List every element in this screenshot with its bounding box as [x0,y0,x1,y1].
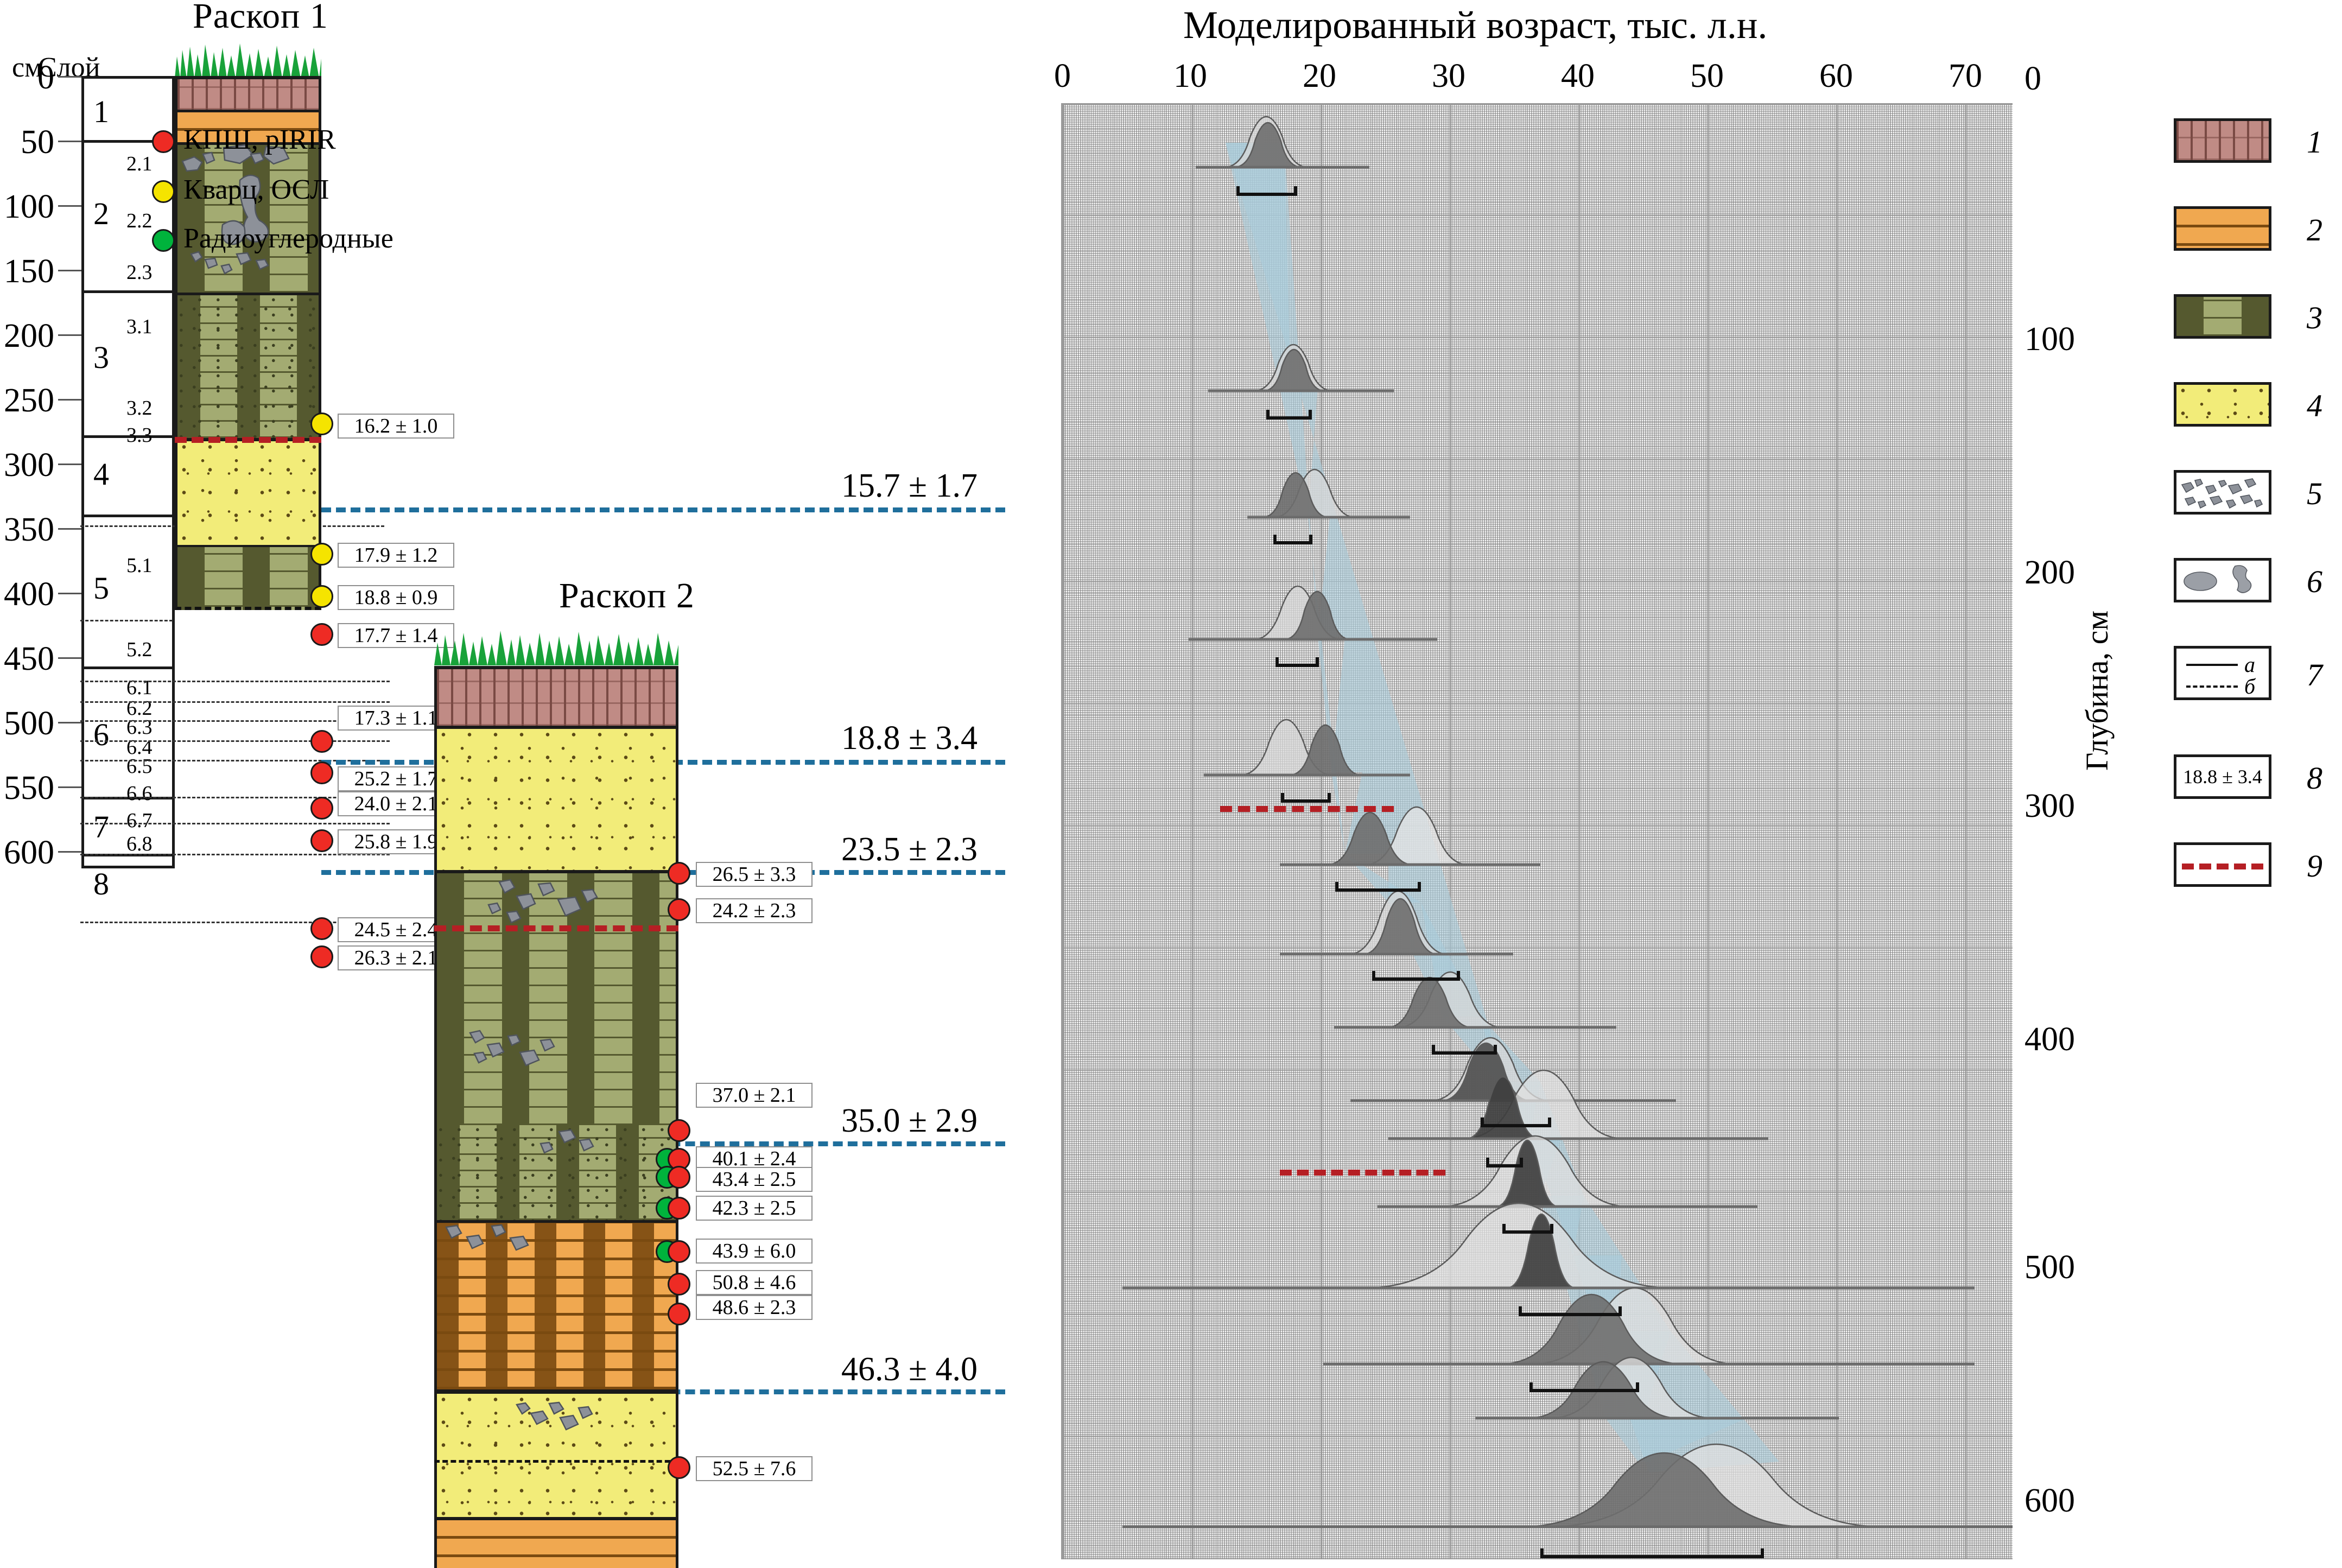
depth-tickmark [58,399,82,401]
sample-dot[interactable] [668,1119,690,1142]
legend-number: 5 [2307,475,2322,512]
sample-dot[interactable] [310,829,333,852]
sublayer-label: 6.5 [126,754,153,778]
sample-age-box: 26.5 ± 3.3 [696,862,813,887]
hdi-bracket [1540,1548,1764,1558]
legend-number: 8 [2307,760,2322,796]
layer-divider [81,290,175,293]
legend-number: 3 [2307,300,2322,336]
chart-title: Моделированный возраст, тыс. л.н. [1183,3,1767,48]
hdi-bracket [1486,1158,1523,1167]
column1-layer-1a [175,76,321,110]
depth-tick-left: 100 [0,188,54,226]
sublayer-connector [80,740,390,742]
clast-shapes-column2-lower [434,1125,678,1386]
sublayer-connector [80,701,390,703]
hdi-bracket [1273,535,1312,544]
column2-layer-3-3 [434,666,678,726]
dating-legend-label: Радиоуглеродные [183,223,393,255]
sublayer-label: 6.6 [126,782,153,805]
sample-dot[interactable] [310,761,333,784]
depth-tick-right: 500 [2024,1248,2106,1287]
boundary-line-1 [321,507,1005,512]
sublayer-label: 6.7 [126,809,153,833]
legend-swatch-7: а б [2174,646,2271,700]
depth-tick-left: 200 [0,317,54,356]
sample-age-box: 24.2 ± 2.3 [696,898,813,923]
sample-age-box: 37.0 ± 2.1 [696,1083,813,1108]
depth-tick-left: 50 [0,123,54,162]
legend-age-sample: 18.8 ± 3.4 [2183,765,2262,788]
depth-tickmark [58,722,82,723]
legend-swatch-2 [2174,206,2271,251]
legend-swatch-3 [2174,294,2271,339]
depth-tick-left: 300 [0,446,54,485]
depth-tick-right: 600 [2024,1482,2106,1520]
hiatus-marker-plot [1280,1170,1445,1176]
age-axis-tick: 20 [1303,57,1336,96]
layer-number: 2 [93,195,109,232]
sublayer-label: 6.8 [126,832,153,856]
line-type-b-label: б [2244,674,2255,699]
sublayer-label: 5.2 [126,638,153,662]
trench-2-title: Раскоп 2 [559,575,695,617]
grass-icon-trench2 [434,630,678,665]
sample-age-box: 43.4 ± 2.5 [696,1167,813,1192]
dating-legend-label: КПШ, pIRIR [183,124,336,156]
clast-shapes-column2 [434,870,678,1131]
sublayer-connector [80,681,390,682]
legend-number: 1 [2307,124,2322,160]
red-dot-icon [152,130,175,153]
red-dashed-line-sample [2182,864,2263,869]
hdi-bracket [1372,971,1460,981]
sample-dot[interactable] [668,1197,690,1220]
layer-number: 6 [93,716,109,753]
pdf-distributions [1063,105,2013,1559]
depth-tick-right: 100 [2024,320,2106,359]
legend-swatch-9 [2174,842,2271,887]
depth-tick-left: 600 [0,834,54,872]
sublayer-label: 3.3 [126,423,153,447]
sample-dot[interactable] [310,945,333,968]
sublayer-line-column2 [434,1460,678,1463]
layer-divider [81,666,175,669]
layer-divider [81,515,175,517]
depth-tick-left: 450 [0,640,54,678]
depth-tick-right: 300 [2024,787,2106,826]
grass-icon-trench1 [175,42,321,78]
legend-number: 4 [2307,388,2322,424]
sample-dot[interactable] [310,623,333,646]
sample-dot[interactable] [668,1273,690,1296]
trench-1-title: Раскоп 1 [193,0,328,37]
hdi-bracket [1275,657,1319,667]
age-axis-tick: 10 [1173,57,1207,96]
sublayer-label: 2.2 [126,209,153,233]
depth-tickmark [58,141,82,142]
hdi-bracket [1236,186,1297,196]
hdi-bracket [1281,793,1331,803]
hdi-bracket [1502,1224,1553,1234]
sample-dot[interactable] [310,412,333,435]
depth-tick-left: 250 [0,382,54,420]
depth-tickmark [58,593,82,594]
sample-dot[interactable] [668,1456,690,1479]
sample-age-box: 43.9 ± 6.0 [696,1239,813,1264]
hiatus-line-column1 [175,437,321,443]
sample-dot[interactable] [310,543,333,566]
sample-dot[interactable] [310,917,333,940]
sample-age-box: 50.8 ± 4.6 [696,1270,813,1295]
depth-tickmark [58,76,82,78]
column1-layer-4 [175,438,321,545]
sample-dot[interactable] [668,1240,690,1263]
sample-dot[interactable] [668,1303,690,1325]
layer-number: 7 [93,809,109,845]
sample-age-box: 16.2 ± 1.0 [338,414,454,439]
depth-tick-left: 350 [0,511,54,549]
legend-swatch-6 [2174,558,2271,602]
boundary-age-label: 23.5 ± 2.3 [841,830,978,869]
hdi-bracket [1529,1382,1639,1392]
depth-tickmark [58,528,82,530]
clast-shapes-column2-layer7 [434,1395,678,1460]
hiatus-line-column2 [434,925,678,931]
sublayer-connector [80,823,390,824]
depth-tickmark [58,334,82,336]
sample-age-box: 52.5 ± 7.6 [696,1456,813,1481]
legend-swatch-5 [2174,470,2271,515]
yellow-dot-icon [152,180,175,203]
sample-dot[interactable] [310,797,333,820]
hdi-bracket [1432,1045,1497,1055]
depth-tick-left: 400 [0,575,54,614]
age-axis-tick: 30 [1432,57,1465,96]
depth-tick-left: 550 [0,769,54,808]
depth-tickmark [58,464,82,465]
sublayer-label: 2.3 [126,261,153,284]
depth-tick-right: 400 [2024,1020,2106,1059]
hdi-bracket [1266,410,1312,420]
boundary-age-label: 15.7 ± 1.7 [841,467,978,505]
gravel-clasts-icon [2176,473,2269,513]
legend-swatch-8: 18.8 ± 3.4 [2174,754,2271,799]
sample-age-box: 17.9 ± 1.2 [338,543,454,568]
depth-tick-left: 0 [0,59,54,97]
layer-number: 1 [93,93,109,130]
sublayer-label: 3.1 [126,315,153,339]
age-axis-tick: 70 [1949,57,1982,96]
legend-number: 7 [2307,657,2322,693]
legend-number: 9 [2307,848,2322,884]
sample-dot[interactable] [668,1166,690,1189]
column1-layer-5-1 [175,545,321,610]
age-axis-tick: 50 [1690,57,1724,96]
depth-axis-right-label: Глубина, см [2079,611,2115,771]
sample-dot[interactable] [668,862,690,885]
age-axis-tick: 0 [1054,57,1071,96]
layer-number: 3 [93,339,109,376]
green-dot-icon [152,229,175,252]
depth-tickmark [58,205,82,207]
age-axis-tick: 40 [1561,57,1595,96]
boundary-age-label: 18.8 ± 3.4 [841,719,978,758]
column2-layer-4 [434,726,678,870]
sublayer-label: 2.1 [126,152,153,176]
sample-dot[interactable] [310,585,333,608]
legend-number: 2 [2307,212,2322,248]
sublayer-connector [80,620,173,621]
column1-layer-3 [175,293,321,438]
depth-tickmark [58,270,82,271]
depth-tick-left: 500 [0,704,54,743]
boundary-age-label: 35.0 ± 2.9 [841,1102,978,1140]
hiatus-marker-plot [1220,806,1394,812]
boundary-age-label: 46.3 ± 4.0 [841,1350,978,1389]
hdi-bracket [1519,1306,1622,1316]
age-depth-plot [1061,103,2013,1559]
sublayer-label: 3.2 [126,396,153,420]
solid-line-sample [2186,664,2238,666]
sample-dot[interactable] [310,730,333,753]
legend-swatch-1 [2174,118,2271,163]
depth-tick-left: 150 [0,252,54,291]
depth-tick-right: 200 [2024,554,2106,592]
hdi-bracket [1335,882,1421,892]
age-axis-tick: 60 [1819,57,1853,96]
depth-tickmark [58,657,82,659]
layer-number: 4 [93,456,109,492]
column2-layer-8 [434,1517,678,1568]
sample-age-box: 18.8 ± 0.9 [338,585,454,610]
depth-tickmark [58,851,82,853]
legend-swatch-4 [2174,382,2271,427]
dashed-line-sample [2186,685,2238,688]
depth-tickmark [58,786,82,788]
large-clasts-icon [2176,561,2269,601]
layer-number: 8 [93,866,109,902]
dating-legend-label: Кварц, ОСЛ [183,174,329,206]
sample-age-box: 42.3 ± 2.5 [696,1196,813,1221]
layer-number: 5 [93,570,109,606]
depth-tick-right: 0 [2024,60,2106,98]
sample-dot[interactable] [668,898,690,921]
hdi-bracket [1481,1118,1551,1127]
legend-number: 6 [2307,563,2322,600]
clast-shapes-column1 [175,142,321,294]
sublayer-label: 5.1 [126,554,153,577]
sample-age-box: 48.6 ± 2.3 [696,1295,813,1320]
